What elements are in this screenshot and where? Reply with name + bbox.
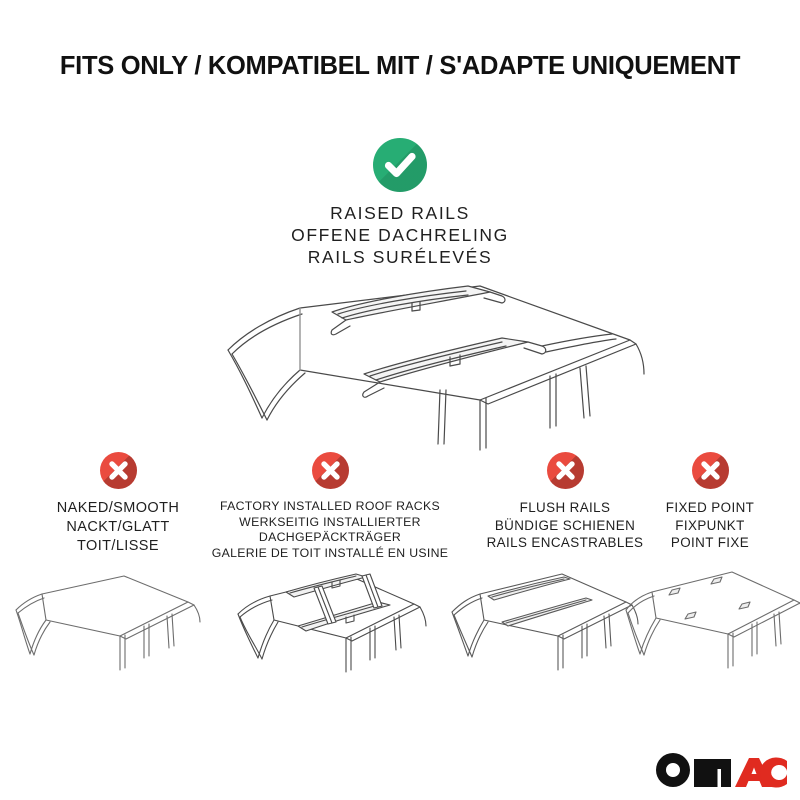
x-circle-icon — [100, 452, 137, 489]
incompatible-labels: FLUSH RAILS BÜNDIGE SCHIENEN RAILS ENCAS… — [462, 499, 668, 552]
car-roof-fixed-point-illustration — [618, 552, 800, 687]
omac-logo — [655, 752, 787, 788]
label-line-3: RAILS ENCASTRABLES — [462, 534, 668, 552]
incompatible-item-flush-rails: FLUSH RAILS BÜNDIGE SCHIENEN RAILS ENCAS… — [462, 452, 668, 552]
incompatible-item-fixed-point: FIXED POINT FIXPUNKT POINT FIXE — [645, 452, 775, 552]
label-line-1: NAKED/SMOOTH — [18, 499, 218, 518]
car-roof-flush-rails-illustration — [440, 552, 645, 687]
compatible-label-fr: RAILS SURÉLEVÉS — [0, 246, 800, 268]
label-line-1: FACTORY INSTALLED ROOF RACKS — [205, 499, 455, 515]
label-line-3: TOIT/LISSE — [18, 537, 218, 556]
label-line-1: FLUSH RAILS — [462, 499, 668, 517]
label-line-3: POINT FIXE — [645, 534, 775, 552]
compatibility-infographic: FITS ONLY / KOMPATIBEL MIT / S'ADAPTE UN… — [0, 0, 800, 800]
label-line-2: NACKT/GLATT — [18, 518, 218, 537]
x-circle-icon — [312, 452, 349, 489]
incompatible-labels: FIXED POINT FIXPUNKT POINT FIXE — [645, 499, 775, 552]
car-roof-factory-rack-illustration — [222, 544, 437, 684]
x-circle-icon — [692, 452, 729, 489]
incompatible-labels: NAKED/SMOOTH NACKT/GLATT TOIT/LISSE — [18, 499, 218, 556]
compatible-label-en: RAISED RAILS — [0, 202, 800, 224]
page-title: FITS ONLY / KOMPATIBEL MIT / S'ADAPTE UN… — [0, 52, 800, 81]
label-line-2: WERKSEITIG INSTALLIERTER — [205, 515, 455, 531]
incompatible-item-naked-smooth: NAKED/SMOOTH NACKT/GLATT TOIT/LISSE — [18, 452, 218, 556]
check-circle-icon — [373, 138, 427, 192]
compatible-icon-wrap — [0, 138, 800, 192]
logo-letter-o — [656, 753, 690, 787]
car-roof-raised-rails-illustration — [150, 278, 660, 458]
label-line-2: FIXPUNKT — [645, 517, 775, 535]
car-roof-smooth-illustration — [2, 558, 207, 683]
incompatible-columns: NAKED/SMOOTH NACKT/GLATT TOIT/LISSE FACT… — [0, 452, 800, 712]
compatible-label-de: OFFENE DACHRELING — [0, 224, 800, 246]
label-line-2: BÜNDIGE SCHIENEN — [462, 517, 668, 535]
label-line-1: FIXED POINT — [645, 499, 775, 517]
x-circle-icon — [547, 452, 584, 489]
compatible-labels: RAISED RAILS OFFENE DACHRELING RAILS SUR… — [0, 202, 800, 268]
